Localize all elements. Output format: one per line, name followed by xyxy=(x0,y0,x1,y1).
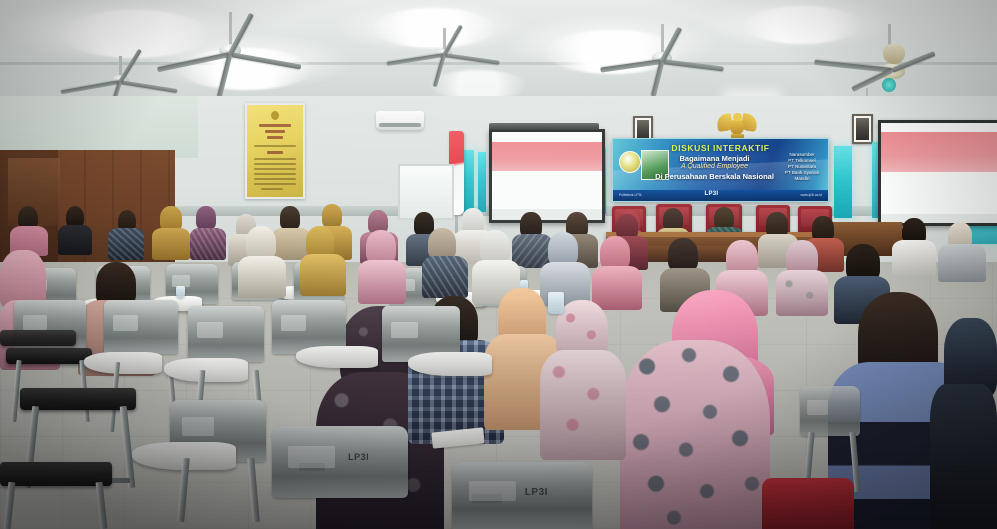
seminar-hall-photo: DISKUSI INTERAKTIF Bagaimana Menjadi A Q… xyxy=(0,0,997,529)
wall-accent-panel xyxy=(464,150,474,212)
ceiling-fan-icon xyxy=(382,28,506,82)
audience-body xyxy=(152,228,190,260)
vice-president-portrait xyxy=(852,114,873,144)
audience-body xyxy=(58,225,92,255)
foreground-person-hijab-floral xyxy=(620,340,770,529)
audience-hijab xyxy=(366,230,396,264)
audience-hijab-white xyxy=(480,230,510,264)
audience-head xyxy=(668,238,698,272)
folding-chair-back-labeled[interactable]: LP3I xyxy=(452,462,592,529)
garuda-emblem-icon xyxy=(718,111,756,141)
folding-chair-back[interactable] xyxy=(104,300,178,354)
banner-line-3: Di Perusahaan Berskala Nasional xyxy=(647,172,782,181)
audience-hijab xyxy=(600,236,630,270)
banner-line-2: A Qualified Employee xyxy=(647,163,782,170)
audience-body xyxy=(892,240,936,276)
banner-speakers: Narasumber PT Telkomsel PT Nusantara PT … xyxy=(779,152,825,182)
audience-hijab xyxy=(322,204,342,228)
audience-body xyxy=(938,244,986,282)
red-bag xyxy=(762,478,854,529)
drinking-cup xyxy=(548,292,564,314)
chair-sticker xyxy=(472,494,502,503)
ceiling-fan-icon xyxy=(790,24,940,104)
wall-accent-panel xyxy=(834,146,852,218)
notice-poster xyxy=(245,103,305,199)
air-conditioner-unit xyxy=(376,111,424,130)
chair-writing-tablet[interactable] xyxy=(164,358,248,382)
speaker-3: PT Bank Syariah Mandiri xyxy=(779,170,825,182)
audience-body xyxy=(190,228,226,260)
wall-accent-panel xyxy=(478,152,486,212)
folding-chair-seat[interactable] xyxy=(0,330,76,346)
banner-footer: Politeknik LP3I LP3I www.lp3i.ac.id xyxy=(613,190,828,201)
audience-hijab xyxy=(548,232,578,266)
banner-footer-right: www.lp3i.ac.id xyxy=(801,193,822,197)
audience-hijab-white xyxy=(246,226,276,260)
drinking-cup xyxy=(176,286,185,298)
folding-chair-back[interactable] xyxy=(188,306,264,362)
audience-body-floral xyxy=(540,350,626,460)
fan-canopy xyxy=(883,44,905,64)
ceiling-fan-icon xyxy=(596,24,728,94)
chair-writing-tablet[interactable] xyxy=(296,346,378,368)
banner-footer-left: Politeknik LP3I xyxy=(619,193,641,197)
institution-logo-icon xyxy=(619,151,641,173)
audience-body xyxy=(776,270,828,316)
audience-hijab xyxy=(196,206,216,230)
audience-body xyxy=(592,266,642,310)
chair-sticker xyxy=(299,463,325,471)
event-banner: DISKUSI INTERAKTIF Bagaimana Menjadi A Q… xyxy=(612,138,829,202)
folding-chair-back-labeled[interactable]: LP3I xyxy=(272,426,408,498)
foreground-person-right-edge-body xyxy=(930,384,997,529)
screen-roller-casing xyxy=(489,123,599,130)
audience-body xyxy=(422,256,468,298)
audience-body xyxy=(358,260,406,304)
fan-light xyxy=(882,78,896,92)
chair-writing-tablet[interactable] xyxy=(408,352,492,376)
banner-line-1: Bagaimana Menjadi xyxy=(647,154,782,163)
folding-chair-back[interactable] xyxy=(800,386,860,436)
wall-panel-left xyxy=(0,96,198,158)
audience-body xyxy=(300,254,346,296)
chair-writing-tablet[interactable] xyxy=(84,352,162,374)
chair-brand-label: LP3I xyxy=(525,487,548,498)
banner-footer-logo: LP3I xyxy=(705,191,719,197)
audience-body xyxy=(108,228,144,260)
chair-brand-label: LP3I xyxy=(348,452,369,462)
audience-body xyxy=(238,256,286,298)
poster-seal-icon xyxy=(271,111,279,120)
right-projection-screen xyxy=(878,120,997,226)
audience-head xyxy=(280,206,300,230)
left-projection-screen xyxy=(489,129,605,223)
